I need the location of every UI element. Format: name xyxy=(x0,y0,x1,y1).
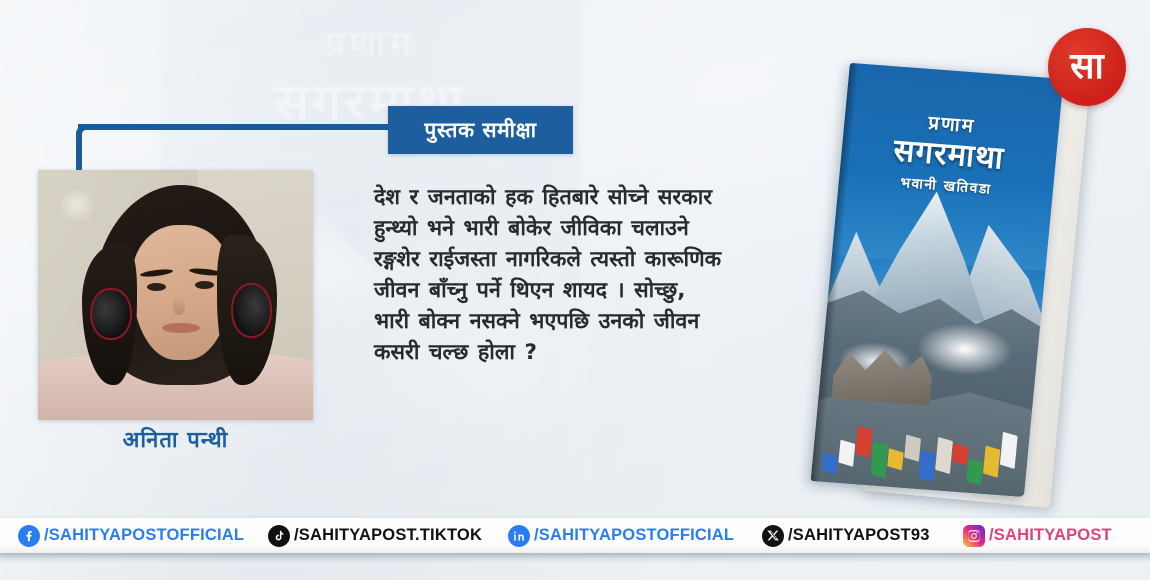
section-badge-label: पुस्तक समीक्षा xyxy=(424,116,536,144)
prayer-flag xyxy=(983,445,1000,477)
prayer-flag xyxy=(952,444,968,466)
quote-line: देश र जनताको हक हितबारे सोच्ने सरकार xyxy=(374,182,826,213)
quote-line: कसरी चल्छ होला ? xyxy=(374,337,826,368)
prayer-flag xyxy=(822,452,838,474)
book-cover: प्रणाम सगरमाथा भवानी खतिवडा xyxy=(806,70,1076,500)
connector-corner xyxy=(76,124,92,140)
review-quote: देश र जनताको हक हितबारे सोच्ने सरकार हुन… xyxy=(374,182,826,368)
section-badge: पुस्तक समीक्षा xyxy=(388,106,573,154)
photo-nose xyxy=(173,295,185,315)
prayer-flag xyxy=(966,458,983,485)
photo-lips xyxy=(162,323,201,334)
photo-eye-left xyxy=(147,283,166,291)
prayer-flag xyxy=(887,448,903,470)
social-handle: /SAHITYAPOSTOFFICIAL xyxy=(534,526,734,545)
photo-highlight xyxy=(55,190,99,220)
social-link-tiktok[interactable]: /SAHITYAPOST.TIKTOK xyxy=(268,518,482,553)
prayer-flag xyxy=(839,439,856,466)
social-link-linkedin[interactable]: /SAHITYAPOSTOFFICIAL xyxy=(508,518,734,553)
social-handle: /SAHITYAPOST.TIKTOK xyxy=(294,526,482,545)
photo-headphone-right xyxy=(231,283,272,338)
social-link-facebook[interactable]: /SAHITYAPOSTOFFICIAL xyxy=(18,518,244,553)
social-footer: /SAHITYAPOSTOFFICIAL/SAHITYAPOST.TIKTOK/… xyxy=(0,518,1150,553)
prayer-flag xyxy=(1000,432,1018,469)
author-photo xyxy=(38,170,313,420)
instagram-icon xyxy=(963,525,985,547)
social-link-instagram[interactable]: /SAHITYAPOST xyxy=(963,518,1112,553)
poster-canvas: प्रणाम सगरमाथा पुस्तक समीक्षा अनिता पन्थ… xyxy=(0,0,1150,580)
quote-line: भारी बोक्न नसक्ने भएपछि उनको जीवन xyxy=(374,306,826,337)
prayer-flag xyxy=(904,435,921,462)
x-twitter-icon xyxy=(762,525,784,547)
connector-horizontal xyxy=(78,124,420,130)
logo-text: सा xyxy=(1070,49,1104,85)
prayer-flag xyxy=(856,426,873,458)
facebook-icon xyxy=(18,525,40,547)
footer-shadow xyxy=(0,553,1150,563)
social-handle: /SAHITYAPOST93 xyxy=(788,526,930,545)
linkedin-icon xyxy=(508,525,530,547)
quote-line: जीवन बाँच्नु पर्ने थिएन शायद । सोच्छु, xyxy=(374,275,826,306)
photo-headphone-left xyxy=(90,288,131,341)
book-cloud xyxy=(915,321,1014,378)
tiktok-icon xyxy=(268,525,290,547)
quote-line: रङ्गशेर राईजस्ता नागरिकले त्यस्तो कारूणि… xyxy=(374,244,826,275)
social-handle: /SAHITYAPOSTOFFICIAL xyxy=(44,526,244,545)
author-name: अनिता पन्थी xyxy=(38,424,313,454)
sahityapost-logo[interactable]: सा xyxy=(1048,28,1126,106)
prayer-flag xyxy=(918,449,935,481)
social-handle: /SAHITYAPOST xyxy=(989,526,1112,545)
photo-face xyxy=(132,225,231,360)
social-link-x-twitter[interactable]: /SAHITYAPOST93 xyxy=(762,518,930,553)
prayer-flag xyxy=(870,441,888,478)
prayer-flag xyxy=(935,436,953,473)
book-prayer-flags xyxy=(816,373,1030,489)
quote-line: हुन्थ्यो भने भारी बोकेर जीविका चलाउने xyxy=(374,213,826,244)
book-front-cover: प्रणाम सगरमाथा भवानी खतिवडा xyxy=(811,63,1064,497)
